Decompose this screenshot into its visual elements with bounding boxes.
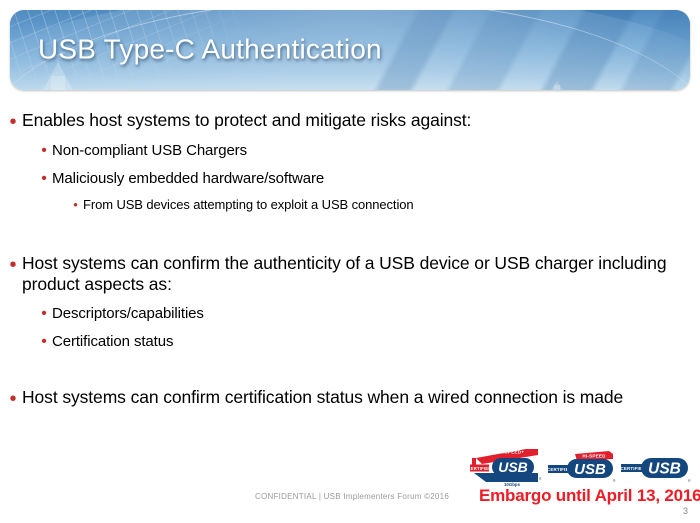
bullet-text: Enables host systems to protect and miti… <box>22 110 471 131</box>
svg-text:USB: USB <box>648 461 681 478</box>
svg-text:USB: USB <box>498 459 528 475</box>
svg-text:SUPERSPEED+: SUPERSPEED+ <box>488 450 524 455</box>
section-gap <box>0 351 700 373</box>
page-title: USB Type-C Authentication <box>38 33 382 65</box>
bullet-dot-icon: • <box>4 253 22 275</box>
bullet-dot-icon: • <box>4 387 22 409</box>
certified-hi-speed-usb-logo: HI-SPEED CERTIFIED USB ® <box>547 450 617 486</box>
bullet-text: Maliciously embedded hardware/software <box>52 169 324 188</box>
svg-text:®: ® <box>613 479 616 483</box>
bullet-text: Non-compliant USB Chargers <box>52 141 247 160</box>
bullet-level1: • Enables host systems to protect and mi… <box>0 110 700 132</box>
bullet-text: Descriptors/capabilities <box>52 304 204 323</box>
title-banner: USB Type-C Authentication <box>10 10 690 90</box>
bullet-level2: • Descriptors/capabilities <box>0 304 700 323</box>
banner-up-arrow-icon-left <box>42 62 74 90</box>
page-number: 3 <box>683 506 688 516</box>
bullet-level2: • Maliciously embedded hardware/software <box>0 169 700 188</box>
bullet-text: Certification status <box>52 332 173 351</box>
svg-text:USB: USB <box>574 461 606 478</box>
bullet-level1: • Host systems can confirm the authentic… <box>0 253 700 295</box>
certified-usb-logo: CERTIFIED USB ® <box>620 453 692 486</box>
banner-up-arrow-icon-right <box>550 81 564 90</box>
section-gap <box>0 213 700 239</box>
svg-text:®: ® <box>688 479 691 483</box>
bullet-dot-icon: • <box>36 141 52 159</box>
svg-text:®: ® <box>539 477 542 481</box>
bullet-text: From USB devices attempting to exploit a… <box>83 196 414 213</box>
superspeed-usb-10gbps-logo: CERTIFIED USB SUPERSPEED+ 10Gbps ® <box>468 446 544 488</box>
bullet-dot-icon: • <box>4 110 22 132</box>
bullet-dot-icon: • <box>36 169 52 187</box>
bullet-dot-icon: • <box>36 304 52 322</box>
embargo-notice: Embargo until April 13, 2016 <box>479 486 700 506</box>
usb-logo-group: CERTIFIED USB SUPERSPEED+ 10Gbps ® HI-SP… <box>468 446 692 488</box>
slide-body: • Enables host systems to protect and mi… <box>0 96 700 409</box>
bullet-dot-icon: • <box>36 332 52 350</box>
svg-text:CERTIFIED: CERTIFIED <box>468 466 491 471</box>
bullet-text: Host systems can confirm the authenticit… <box>22 253 670 295</box>
bullet-level2: • Non-compliant USB Chargers <box>0 141 700 160</box>
bullet-level2: • Certification status <box>0 332 700 351</box>
bullet-level1: • Host systems can confirm certification… <box>0 387 700 409</box>
bullet-level3: • From USB devices attempting to exploit… <box>0 196 700 213</box>
bullet-text: Host systems can confirm certification s… <box>22 387 623 408</box>
bullet-dot-icon: • <box>68 196 83 211</box>
confidential-footer: CONFIDENTIAL | USB Implementers Forum ©2… <box>255 492 449 501</box>
svg-text:HI-SPEED: HI-SPEED <box>582 454 606 459</box>
